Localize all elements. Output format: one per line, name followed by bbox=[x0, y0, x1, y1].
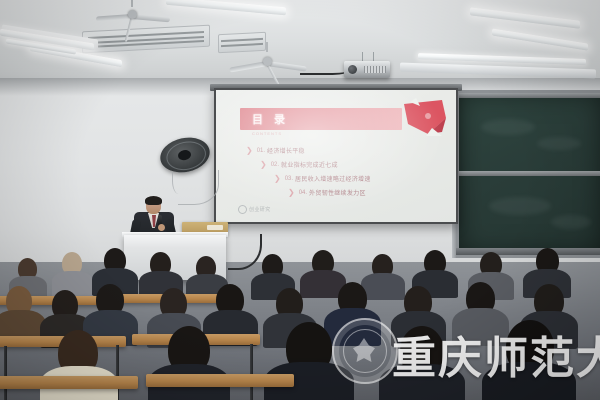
ceiling-fan-2 bbox=[94, 4, 170, 24]
desk-row-3a bbox=[0, 376, 138, 389]
slide-title: 目 录 bbox=[240, 111, 289, 127]
slide-item-2-number: 02. bbox=[271, 162, 279, 168]
chevron-right-icon: ❯ bbox=[274, 175, 281, 183]
presenter-hand bbox=[158, 224, 165, 231]
chevron-right-icon: ❯ bbox=[260, 161, 267, 169]
chalkboard bbox=[456, 90, 600, 258]
slide-title-bar: 目 录 bbox=[240, 108, 402, 130]
chevron-right-icon: ❯ bbox=[288, 189, 295, 197]
presentation-slide: 目 录 CONTENTS ❯ 01. 经济增长平稳 ❯ 02. bbox=[216, 90, 456, 222]
chalk-ledge bbox=[456, 248, 600, 255]
ceiling-fan-1 bbox=[226, 50, 308, 72]
slide-item-3-text: 居民收入增速略过经济增速 bbox=[295, 174, 371, 183]
projector-vent bbox=[364, 66, 386, 73]
slide-item-3-number: 03. bbox=[285, 176, 293, 182]
slide-item-1: ❯ 01. 经济增长平稳 bbox=[246, 146, 436, 155]
slide-title-subtitle: CONTENTS bbox=[252, 131, 282, 136]
slide-item-1-text: 经济增长平稳 bbox=[267, 146, 305, 155]
presenter-hair bbox=[145, 196, 162, 205]
slide-item-2: ❯ 02. 就业指标完成近七成 bbox=[260, 160, 436, 169]
desk-row-3b bbox=[146, 374, 294, 387]
fan-pull-cord-2 bbox=[172, 172, 183, 194]
projector-lens bbox=[348, 65, 357, 74]
logo-mark-icon bbox=[238, 205, 247, 214]
chevron-right-icon: ❯ bbox=[246, 147, 253, 155]
wall-mounted-fan bbox=[160, 138, 210, 180]
slide-logo-text: 创业研究 bbox=[249, 206, 271, 213]
slide-item-1-number: 01. bbox=[257, 148, 265, 154]
projection-screen: 目 录 CONTENTS ❯ 01. 经济增长平稳 ❯ 02. bbox=[214, 88, 458, 224]
laptop-screen bbox=[207, 225, 223, 230]
slide-item-3: ❯ 03. 居民收入增速略过经济增速 bbox=[274, 174, 436, 183]
slide-item-4: ❯ 04. 外贸韧性继续发力区 bbox=[288, 188, 436, 197]
slide-item-4-number: 04. bbox=[299, 190, 307, 196]
slide-contents-list: ❯ 01. 经济增长平稳 ❯ 02. 就业指标完成近七成 ❯ 03. 居民收入增… bbox=[246, 146, 436, 202]
slide-item-4-text: 外贸韧性继续发力区 bbox=[309, 188, 366, 197]
desk-leg bbox=[250, 344, 253, 400]
ribbon-decoration bbox=[402, 98, 448, 138]
slide-footer-logo: 创业研究 bbox=[238, 205, 271, 214]
desk-leg bbox=[4, 346, 7, 400]
lecture-hall-photo: 目 录 CONTENTS ❯ 01. 经济增长平稳 ❯ 02. bbox=[0, 0, 600, 400]
ceiling-projector bbox=[344, 61, 390, 78]
projector-cable bbox=[300, 66, 348, 75]
slide-item-2-text: 就业指标完成近七成 bbox=[281, 160, 338, 169]
